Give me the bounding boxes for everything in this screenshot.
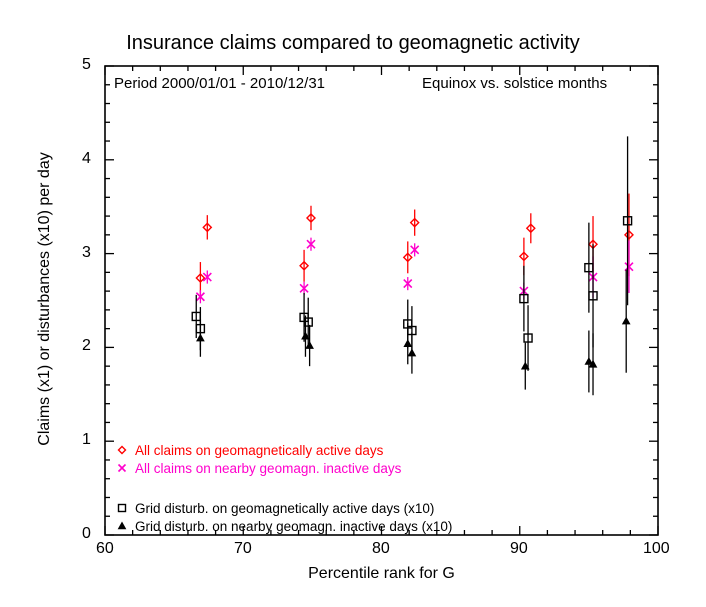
marker-triangle — [119, 523, 126, 529]
legend-markers — [119, 447, 126, 529]
series-3 — [197, 270, 630, 396]
legend-label-0: All claims on geomagnetically active day… — [135, 443, 383, 458]
series-1 — [196, 238, 633, 304]
marker-triangle — [197, 335, 204, 341]
marker-square — [119, 505, 126, 512]
marker-diamond — [119, 447, 126, 454]
marker-triangle — [408, 350, 415, 356]
chart-figure: Insurance claims compared to geomagnetic… — [0, 0, 706, 607]
legend-label-2: Grid disturb. on geomagnetically active … — [135, 501, 434, 516]
legend-label-3: Grid disturb. on nearby geomagn. inactiv… — [135, 519, 452, 534]
legend-label-1: All claims on nearby geomagn. inactive d… — [135, 461, 401, 476]
marker-triangle — [623, 318, 630, 324]
marker-cross — [119, 465, 126, 472]
marker-triangle — [306, 342, 313, 348]
marker-triangle — [404, 340, 411, 346]
